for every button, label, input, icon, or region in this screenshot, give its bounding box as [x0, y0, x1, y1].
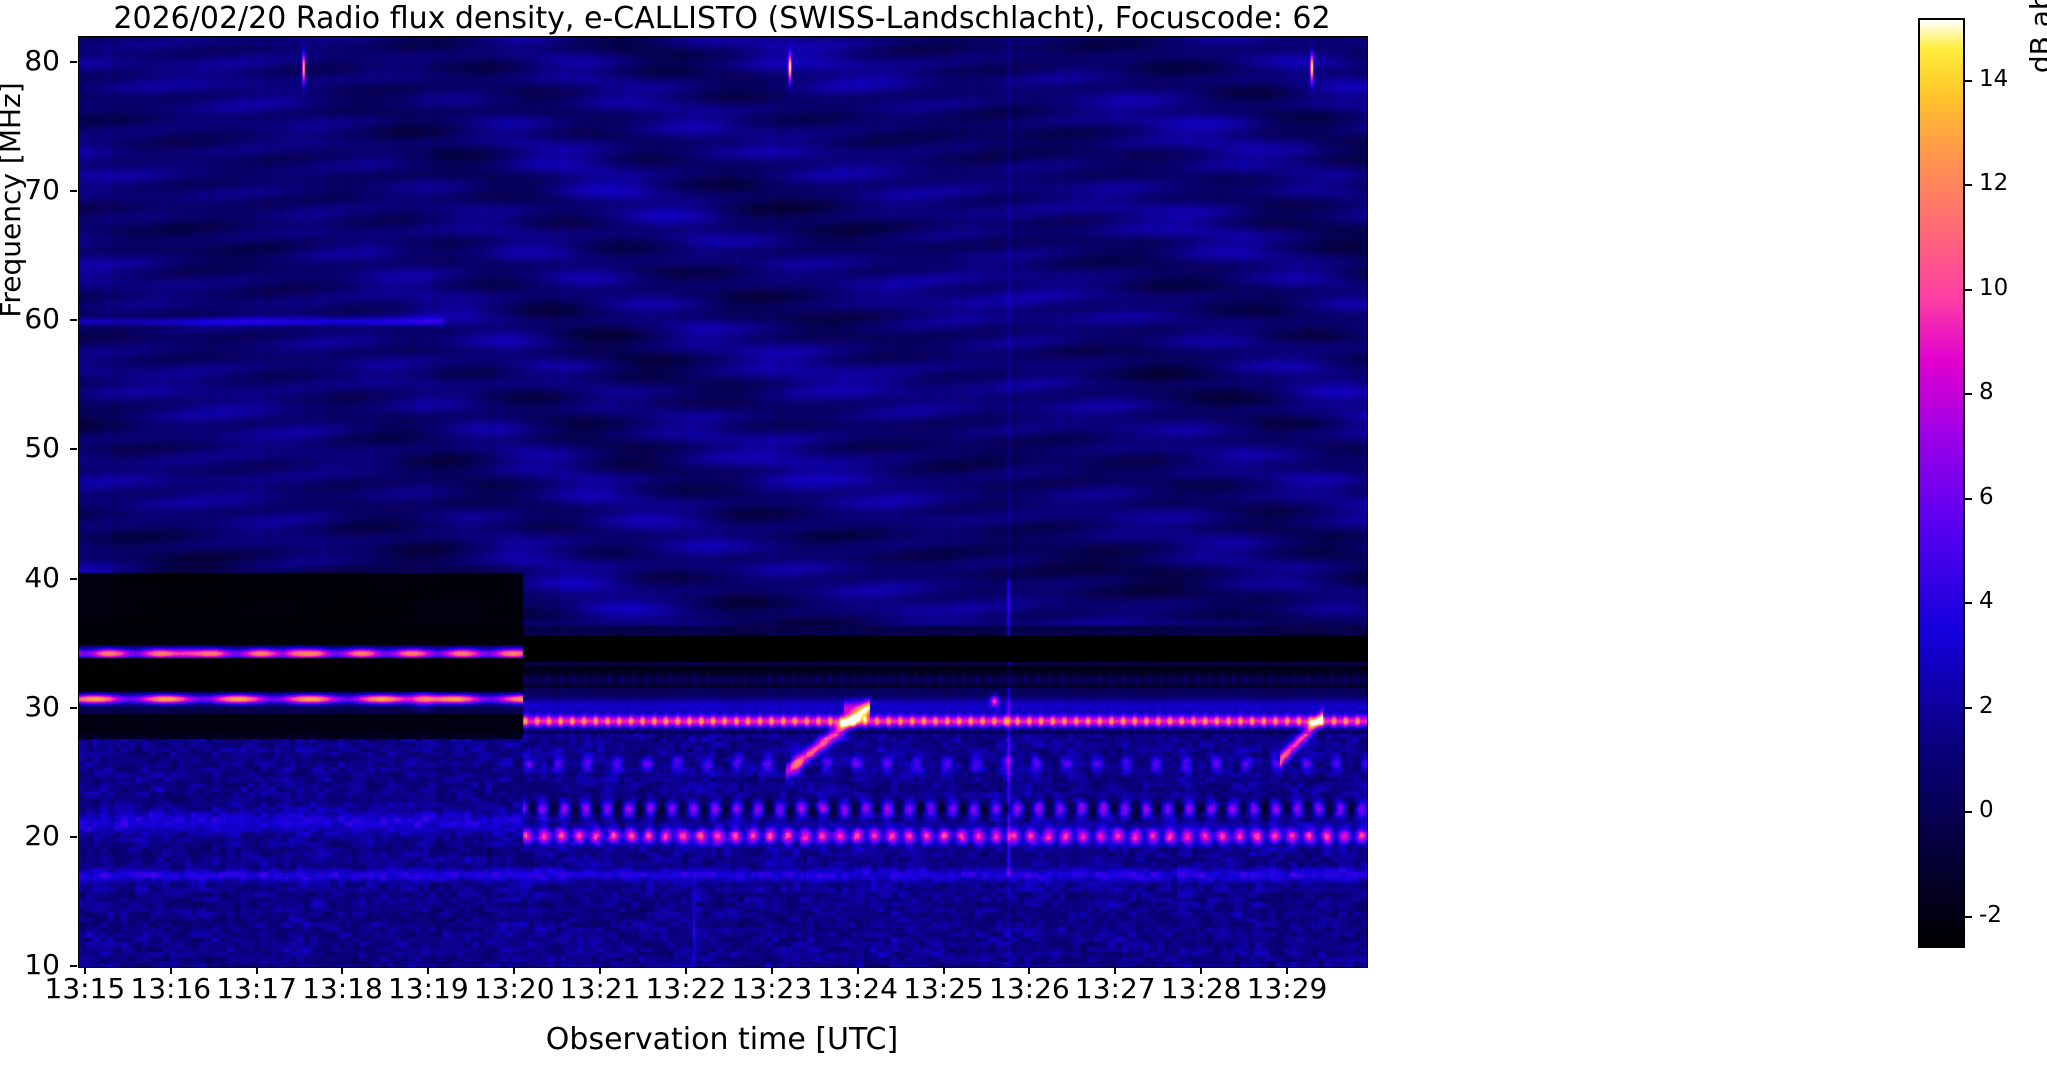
x-tick-label: 13:29	[1217, 972, 1357, 1005]
colorbar-tick-mark	[1965, 916, 1972, 918]
spectrogram-axes[interactable]	[78, 36, 1368, 968]
colorbar-tick-mark	[1965, 393, 1972, 395]
x-tick-mark	[341, 967, 343, 974]
colorbar-tick-mark	[1965, 498, 1972, 500]
colorbar-tick-mark	[1965, 811, 1972, 813]
colorbar-tick-label: 10	[1979, 275, 2039, 301]
x-tick-mark	[771, 967, 773, 974]
colorbar-label: dB above background	[2024, 0, 2047, 200]
page-title: 2026/02/20 Radio flux density, e-CALLIST…	[78, 2, 1366, 36]
y-tick-label: 80	[0, 44, 60, 77]
colorbar-tick-mark	[1965, 707, 1972, 709]
x-tick-mark	[1028, 967, 1030, 974]
x-tick-mark	[170, 967, 172, 974]
colorbar[interactable]	[1918, 18, 1965, 948]
x-tick-mark	[427, 967, 429, 974]
y-tick-label: 50	[0, 431, 60, 464]
y-tick-label: 60	[0, 302, 60, 335]
y-tick-mark	[70, 448, 77, 450]
x-tick-mark	[1200, 967, 1202, 974]
y-tick-mark	[70, 836, 77, 838]
x-tick-mark	[599, 967, 601, 974]
colorbar-tick-label: 2	[1979, 693, 2039, 719]
y-tick-label: 30	[0, 690, 60, 723]
colorbar-tick-mark	[1965, 80, 1972, 82]
x-tick-mark	[256, 967, 258, 974]
x-tick-mark	[84, 967, 86, 974]
y-tick-mark	[70, 578, 77, 580]
y-tick-mark	[70, 965, 77, 967]
y-tick-mark	[70, 707, 77, 709]
figure-canvas: 2026/02/20 Radio flux density, e-CALLIST…	[0, 0, 2047, 1067]
colorbar-tick-label: -2	[1979, 902, 2039, 928]
colorbar-tick-mark	[1965, 602, 1972, 604]
y-tick-mark	[70, 190, 77, 192]
x-axis-label: Observation time [UTC]	[78, 1022, 1366, 1057]
colorbar-tick-label: 6	[1979, 484, 2039, 510]
y-tick-mark	[70, 319, 77, 321]
colorbar-tick-label: 0	[1979, 797, 2039, 823]
colorbar-tick-mark	[1965, 289, 1972, 291]
x-tick-mark	[1114, 967, 1116, 974]
y-tick-label: 20	[0, 819, 60, 852]
x-tick-mark	[943, 967, 945, 974]
y-tick-label: 40	[0, 561, 60, 594]
x-tick-mark	[685, 967, 687, 974]
y-tick-mark	[70, 61, 77, 63]
colorbar-tick-label: 4	[1979, 588, 2039, 614]
spectrogram-image	[79, 37, 1367, 967]
colorbar-tick-mark	[1965, 184, 1972, 186]
x-tick-mark	[857, 967, 859, 974]
x-tick-mark	[513, 967, 515, 974]
colorbar-tick-label: 8	[1979, 379, 2039, 405]
colorbar-gradient	[1920, 20, 1963, 946]
x-tick-mark	[1286, 967, 1288, 974]
y-tick-label: 70	[0, 173, 60, 206]
